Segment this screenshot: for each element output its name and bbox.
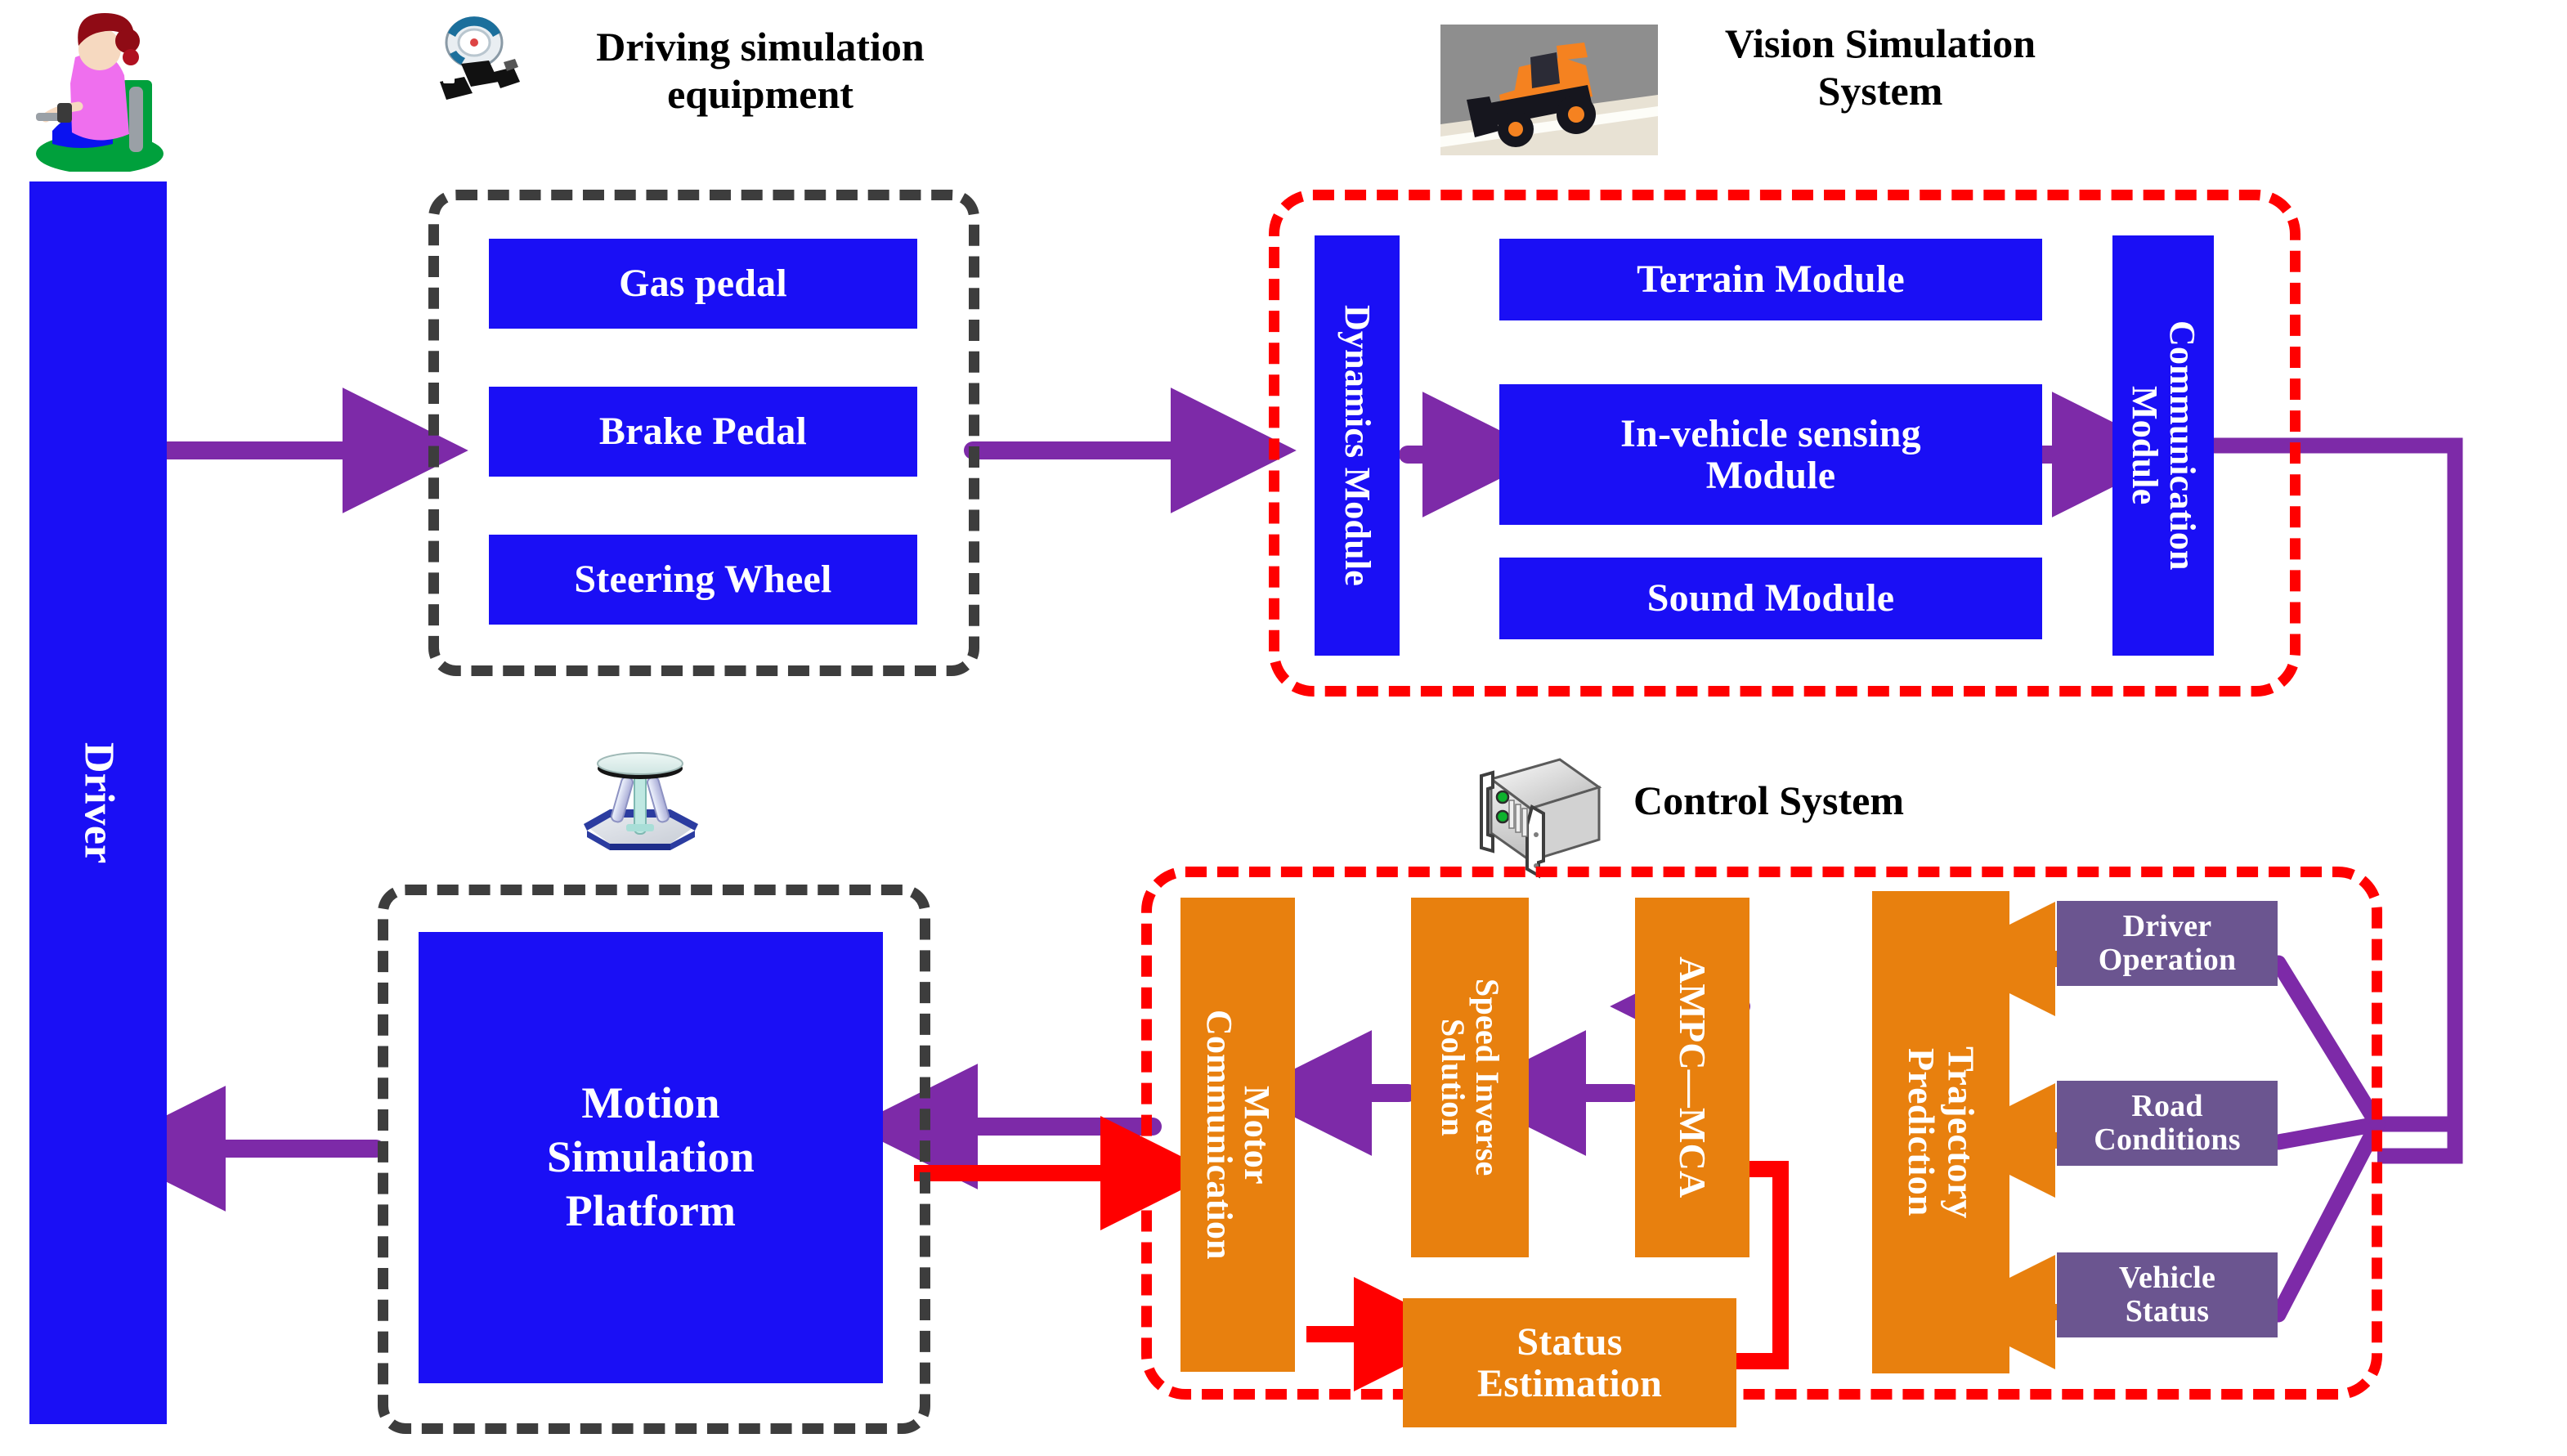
driving-equipment-heading-line2: equipment (523, 70, 997, 118)
gas-pedal-label: Gas pedal (619, 262, 787, 304)
road-conditions-block[interactable]: Road Conditions (2057, 1081, 2278, 1166)
steering-wheel-pedals-icon (425, 15, 531, 105)
stewart-hexapod-icon (562, 746, 718, 860)
driver-operation-block[interactable]: Driver Operation (2057, 901, 2278, 986)
communication-module-block[interactable]: Communication Module (2112, 235, 2214, 656)
status-estimation-label: Status Estimation (1477, 1321, 1662, 1405)
ampc-mca-label: AMPC—MCA (1673, 956, 1712, 1198)
speed-inverse-solution-block[interactable]: Speed Inverse Solution (1411, 898, 1529, 1257)
trajectory-prediction-block[interactable]: Trajectory Prediction (1872, 891, 2009, 1373)
dynamics-module-block[interactable]: Dynamics Module (1315, 235, 1400, 656)
sound-module-label: Sound Module (1647, 577, 1895, 619)
diagram-canvas: Driver Driving simulation equipment Gas … (0, 0, 2567, 1456)
control-system-heading: Control System (1633, 777, 2059, 824)
sound-module-block[interactable]: Sound Module (1499, 558, 2042, 639)
speed-inverse-solution-label: Speed Inverse Solution (1436, 979, 1504, 1176)
brake-pedal-block[interactable]: Brake Pedal (489, 387, 917, 477)
vision-system-heading-line2: System (1668, 67, 2093, 114)
terrain-module-label: Terrain Module (1637, 258, 1905, 300)
vision-system-heading-line1: Vision Simulation (1668, 20, 2093, 67)
steering-wheel-block[interactable]: Steering Wheel (489, 535, 917, 625)
motor-communication-block[interactable]: Motor Communication (1180, 898, 1295, 1372)
status-estimation-block[interactable]: Status Estimation (1403, 1298, 1736, 1427)
driving-equipment-heading: Driving simulation equipment (523, 23, 997, 118)
driver-bar[interactable]: Driver (29, 181, 167, 1424)
driver-operation-label: Driver Operation (2099, 910, 2237, 976)
driver-label: Driver (76, 742, 121, 863)
trajectory-prediction-label: Trajectory Prediction (1902, 1046, 1981, 1219)
motor-communication-label: Motor Communication (1200, 1010, 1275, 1260)
control-system-heading-text: Control System (1633, 777, 1904, 823)
brake-pedal-label: Brake Pedal (599, 410, 807, 452)
road-conditions-label: Road Conditions (2094, 1090, 2240, 1156)
seated-driver-icon (25, 8, 172, 172)
server-rack-icon (1463, 756, 1619, 879)
steering-wheel-label: Steering Wheel (574, 558, 831, 600)
in-vehicle-sensing-module-block[interactable]: In-vehicle sensing Module (1499, 384, 2042, 525)
motion-simulation-platform-label: Motion Simulation Platform (547, 1077, 755, 1239)
communication-module-label: Communication Module (2126, 320, 2201, 571)
in-vehicle-sensing-module-label: In-vehicle sensing Module (1620, 413, 1921, 497)
dynamics-module-label: Dynamics Module (1338, 305, 1376, 586)
wheel-loader-photo-icon (1440, 25, 1658, 155)
vehicle-status-block[interactable]: Vehicle Status (2057, 1252, 2278, 1337)
motion-simulation-platform-block[interactable]: Motion Simulation Platform (419, 932, 883, 1383)
driving-equipment-heading-line1: Driving simulation (523, 23, 997, 70)
terrain-module-block[interactable]: Terrain Module (1499, 239, 2042, 320)
ampc-mca-block[interactable]: AMPC—MCA (1635, 898, 1749, 1257)
vision-system-heading: Vision Simulation System (1668, 20, 2093, 114)
gas-pedal-block[interactable]: Gas pedal (489, 239, 917, 329)
vehicle-status-label: Vehicle Status (2119, 1261, 2215, 1328)
